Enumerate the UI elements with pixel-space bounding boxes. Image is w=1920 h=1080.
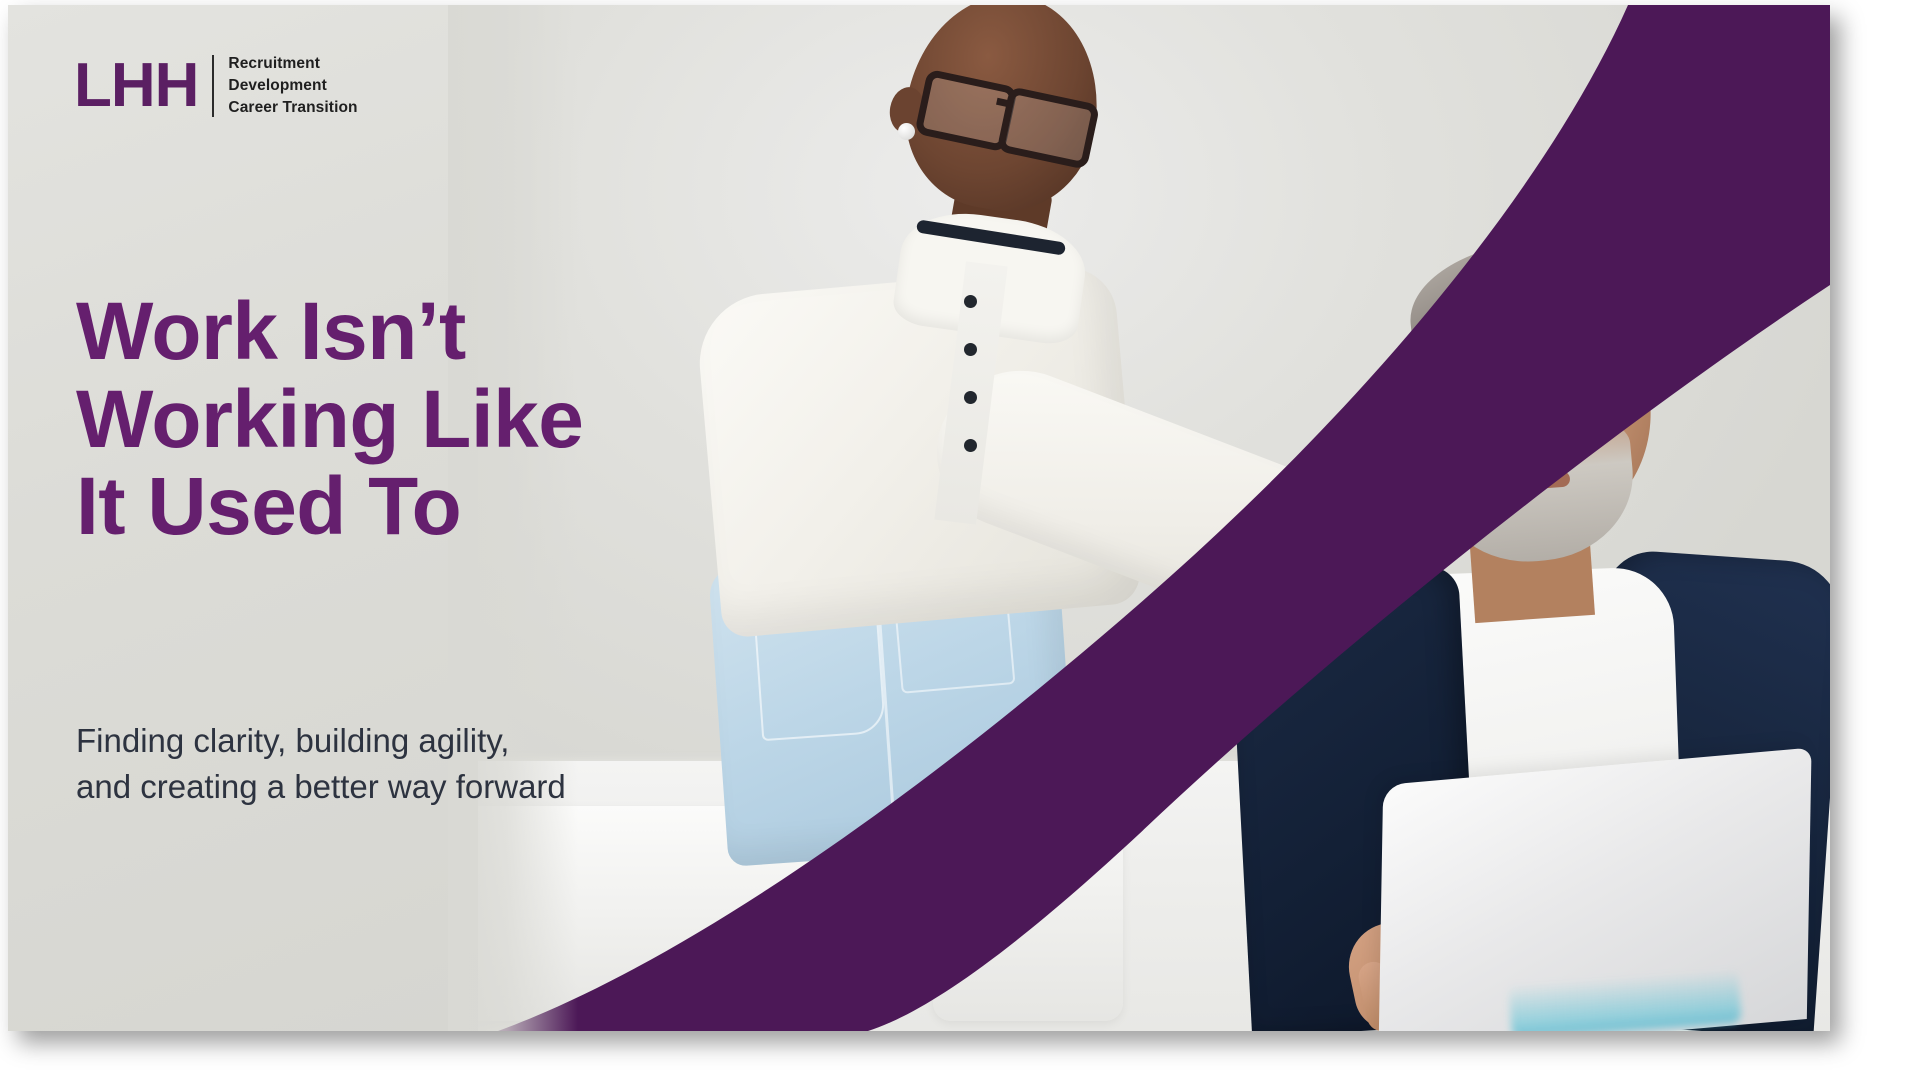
logo-tagline-line-1: Recruitment	[228, 53, 357, 75]
woman-shirt-button-3	[964, 391, 977, 404]
logo-tagline-line-3: Career Transition	[228, 97, 357, 119]
logo-tagline: Recruitment Development Career Transitio…	[228, 53, 357, 119]
man-glasses-bridge	[1517, 375, 1531, 380]
headline-line-1: Work Isn’t	[76, 288, 776, 376]
subheadline-line-2: and creating a better way forward	[76, 764, 776, 810]
woman-shirt-button-4	[964, 439, 977, 452]
subheadline-line-1: Finding clarity, building agility,	[76, 718, 776, 764]
man-eyeglasses-icon	[1431, 355, 1645, 424]
lhh-logo[interactable]: LHH Recruitment Development Career Trans…	[74, 53, 358, 119]
presentation-slide: LHH Recruitment Development Career Trans…	[8, 5, 1830, 1031]
woman-earring	[898, 123, 915, 140]
slide-headline: Work Isn’t Working Like It Used To	[76, 288, 776, 551]
woman-shirt-button-1	[964, 295, 977, 308]
slide-subheadline: Finding clarity, building agility, and c…	[76, 718, 776, 809]
headline-line-2: Working Like	[76, 376, 776, 464]
logo-tagline-line-2: Development	[228, 75, 357, 97]
logo-wordmark: LHH	[74, 55, 198, 117]
screenshot-canvas: LHH Recruitment Development Career Trans…	[0, 0, 1920, 1080]
man-beard	[1430, 413, 1639, 570]
man-lens-right	[1527, 356, 1627, 427]
man-lens-left	[1431, 359, 1531, 430]
person-seated-man	[1240, 241, 1800, 1031]
woman-shirt-button-2	[964, 343, 977, 356]
headline-line-3: It Used To	[76, 463, 776, 551]
logo-divider	[212, 55, 214, 117]
